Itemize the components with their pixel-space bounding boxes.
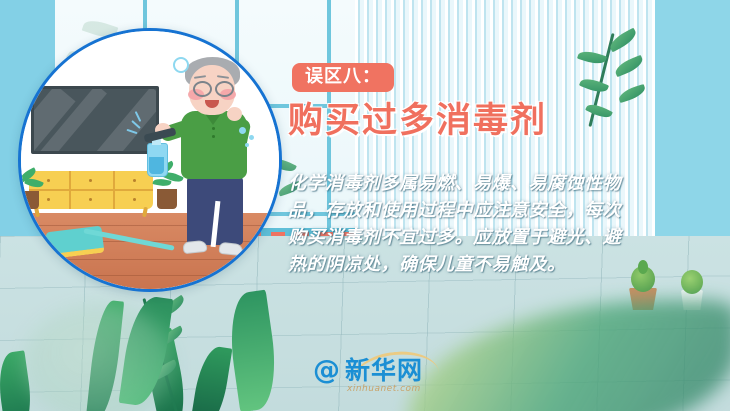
body-line: 热的阴凉处，确保儿童不易触及。 [288,251,664,278]
water-droplet-icon [239,127,246,134]
xinhuanet-logo: @ 新华网 [313,357,423,384]
yellow-dresser [29,171,153,209]
illustration-circle [18,28,282,292]
water-droplet-icon [249,135,254,140]
poster-canvas: 误区八： 购买过多消毒剂 化学消毒剂多属易燃、易爆、易腐蚀性物 品，存放和使用过… [0,0,730,411]
body-paragraph: 化学消毒剂多属易燃、易爆、易腐蚀性物 品，存放和使用过程中应注意安全，每次 购买… [288,170,664,278]
section-badge: 误区八： [292,63,394,92]
at-symbol-icon: @ [313,357,340,384]
thought-bubble-icon [173,57,189,73]
body-line: 化学消毒剂多属易燃、易爆、易腐蚀性物 [288,170,664,197]
logo-name: 新华网 [345,358,423,383]
water-droplet-icon [245,143,249,147]
olive-branch-decoration [556,26,676,136]
headline-title: 购买过多消毒剂 [288,103,547,141]
logo-url: xinhuanet.com [347,384,421,394]
body-line: 品，存放和使用过程中应注意安全，每次 [288,197,664,224]
body-line: 购买消毒剂不宜过多。应放置于避光、避 [288,224,664,251]
